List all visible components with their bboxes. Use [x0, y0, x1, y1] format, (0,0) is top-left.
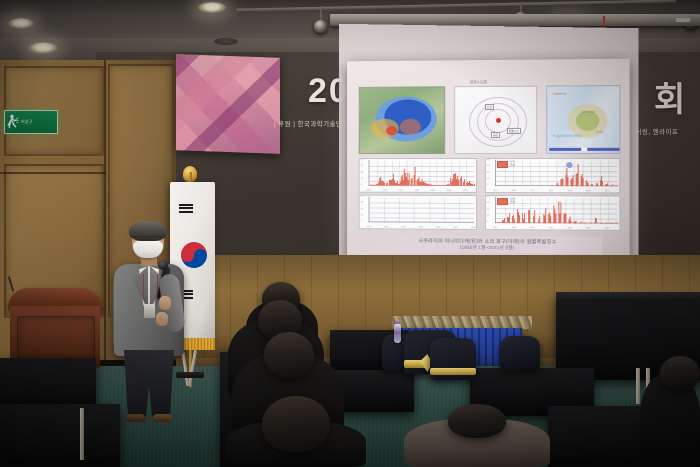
- chart-y-tick: 45: [487, 202, 489, 204]
- chart-gridline-vertical: [429, 198, 430, 223]
- chart-x-tick: 1995: [567, 190, 572, 192]
- banner-sponsor-text: | 후원 | 한국과학기술단체: [274, 118, 349, 128]
- chart-bar: [499, 222, 500, 223]
- audience-head: [262, 396, 330, 452]
- chart-gridline-vertical: [459, 198, 460, 223]
- legend-label: 남악쇼와: [510, 162, 515, 168]
- chart-bar: [514, 219, 515, 223]
- chart-x-tick: 1995: [567, 227, 572, 229]
- banner-right-text: 회: [654, 72, 685, 121]
- chart-bar: [540, 216, 541, 223]
- chart-showa-top: 남악쇼와195519651975198519952005201501530456…: [485, 158, 620, 193]
- map-label: 北岳: [485, 104, 494, 110]
- chart-bar: [509, 213, 510, 223]
- slide-caption-line2: (1955년 1월~2021년 9월): [374, 244, 602, 252]
- chart-gridline-vertical: [444, 161, 445, 186]
- chart-y-tick: 0: [487, 184, 488, 186]
- chart-bar: [586, 223, 587, 224]
- chart-y-tick: 30: [361, 208, 363, 210]
- presenter-shoe-left: [126, 414, 146, 422]
- chart-bar: [617, 223, 618, 224]
- chart-x-tick: 2005: [586, 228, 591, 230]
- downlight-icon: [28, 42, 58, 54]
- projection-screen[interactable]: 桜島火山図 北岳 南岳 昭和火口 Kagoshima Sakurajima Os…: [347, 59, 630, 264]
- chart-x-tick: 1985: [419, 227, 424, 229]
- chart-bar: [612, 223, 613, 224]
- trigram-geon: [179, 204, 193, 214]
- chart-bar: [591, 223, 592, 224]
- chart-bar: [612, 184, 613, 186]
- chart-bar: [576, 220, 577, 223]
- chart-bar: [563, 178, 564, 186]
- chart-bar: [553, 185, 554, 186]
- chart-x-tick: 1975: [398, 190, 403, 192]
- chart-x-tick: 1995: [431, 190, 436, 192]
- chart-gridline-vertical: [582, 198, 583, 223]
- chart-y-tick: 15: [361, 214, 363, 216]
- contour-map-title: 桜島火山図: [470, 79, 487, 84]
- legend-swatch: [497, 198, 508, 205]
- chart-x-tick: 1955: [367, 226, 372, 228]
- chart-gridline-vertical: [548, 161, 549, 186]
- chart-x-tick: 1975: [530, 227, 535, 229]
- chart-bar: [602, 222, 603, 223]
- chart-x-tick: 1995: [436, 227, 441, 229]
- chart-legend: 남악쇼와: [497, 198, 515, 205]
- chart-gridline-vertical: [556, 198, 557, 223]
- chart-x-tick: 2005: [586, 190, 591, 192]
- water-bottle[interactable]: [394, 324, 401, 343]
- chart-gridline-vertical: [574, 198, 575, 223]
- decorative-banner: [176, 54, 280, 154]
- presenter-hand-upper: [159, 296, 171, 310]
- chart-y-axis: [495, 197, 496, 223]
- door-edge: [0, 172, 106, 174]
- chart-y-tick: 30: [361, 171, 363, 173]
- valance-tab: [676, 18, 690, 22]
- audience-head: [660, 356, 700, 390]
- table-leg: [80, 408, 84, 460]
- chart-x-tick: 1955: [367, 190, 372, 192]
- presenter-lanyard: [143, 274, 158, 304]
- presenter-hand-lower: [156, 312, 168, 326]
- chart-x-tick: 2015: [605, 190, 610, 192]
- bottle-cap: [395, 321, 400, 324]
- legend-label: 남악쇼와: [510, 199, 515, 205]
- audience-head: [448, 404, 506, 438]
- slide-map-row: 北岳 南岳 昭和火口 Kagoshima Sakurajima Osumi Ka…: [359, 85, 621, 152]
- chair-sash: [430, 368, 476, 375]
- chart-bar: [581, 221, 582, 224]
- chart-y-tick: 60: [487, 159, 489, 161]
- chart-gridline-vertical: [591, 198, 592, 223]
- chart-x-tick: 1955: [493, 227, 498, 229]
- chart-y-tick: 45: [361, 202, 363, 204]
- chart-bar: [550, 217, 551, 224]
- chart-bar: [558, 183, 559, 186]
- contour-map-image: 北岳 南岳 昭和火口: [454, 86, 537, 154]
- chart-y-tick: 60: [487, 196, 489, 198]
- chair[interactable]: [500, 336, 540, 370]
- chart-bar: [504, 218, 505, 223]
- door-edge: [104, 60, 106, 360]
- slide-chart-grid: 1955196519751985199520052015015304560 남악…: [359, 158, 621, 231]
- chart-bar: [587, 183, 588, 186]
- chart-bar: [474, 184, 475, 186]
- chart-y-tick: 30: [487, 172, 489, 174]
- map-scalebar: [549, 148, 619, 151]
- chart-y-tick: 15: [487, 178, 489, 180]
- chart-bar: [529, 210, 530, 223]
- chart-gridline-vertical: [414, 198, 415, 223]
- chart-bar: [545, 209, 546, 224]
- volcano-peak-marker: [496, 118, 501, 123]
- chart-x-tick: 1955: [493, 190, 498, 192]
- chart-bar: [560, 202, 561, 224]
- chart-bar: [592, 184, 593, 186]
- chart-minamidake-bottom: 1955196519751985199520052015015304560: [359, 195, 477, 230]
- chart-gridline-vertical: [384, 198, 385, 223]
- chart-gridline-vertical: [436, 161, 437, 186]
- chart-y-tick: 60: [361, 196, 363, 198]
- presenter: [112, 224, 188, 424]
- chart-y-tick: 0: [361, 220, 362, 222]
- chart-bar: [565, 213, 566, 223]
- chart-gridline-vertical: [530, 161, 531, 186]
- exit-sign-label: 비상구: [21, 120, 33, 124]
- chart-x-tick: 2015: [605, 228, 610, 230]
- chart-bar: [555, 214, 556, 224]
- chart-bar: [607, 183, 608, 186]
- chart-x-tick: 1975: [401, 226, 406, 228]
- chart-bar: [572, 175, 573, 187]
- chart-x-tick: 1965: [511, 227, 516, 229]
- chart-x-tick: 1975: [530, 190, 535, 192]
- valance-marker: [603, 16, 605, 25]
- lectern-panel: [17, 316, 95, 362]
- slide-content: 桜島火山図 北岳 南岳 昭和火口 Kagoshima Sakurajima Os…: [347, 59, 630, 264]
- chart-gridline-vertical: [600, 198, 601, 223]
- chart-bar: [577, 164, 578, 186]
- chart-x-tick: 1985: [549, 227, 554, 229]
- chart-x-tick: 2005: [453, 227, 458, 229]
- chart-y-tick: 15: [361, 178, 363, 180]
- chart-x-tick: 1965: [382, 190, 387, 192]
- chart-gridline-vertical: [522, 161, 523, 186]
- chart-gridline-vertical: [609, 198, 610, 223]
- chart-gridline-vertical: [530, 198, 531, 223]
- chart-bar: [568, 177, 569, 186]
- running-person-icon: [7, 114, 19, 130]
- chart-y-tick: 0: [361, 184, 362, 186]
- chart-gridline-vertical: [429, 161, 430, 186]
- presenter-trousers: [124, 350, 174, 418]
- legend-swatch: [497, 161, 508, 168]
- spotlight-icon[interactable]: [314, 20, 327, 33]
- chart-y-tick: 30: [487, 209, 489, 211]
- audience-head: [264, 332, 314, 378]
- ceiling-vent-icon: [214, 38, 238, 45]
- chart-gridline-vertical: [609, 161, 610, 186]
- chart-y-axis: [495, 160, 496, 186]
- chart-legend: 남악쇼와: [497, 161, 515, 168]
- chart-minamidake-top: 1955196519751985199520052015015304560: [359, 158, 477, 193]
- bay-map-image: Kagoshima Sakurajima Osumi Kagoshima Bay: [546, 85, 620, 154]
- chart-gridline-vertical: [444, 198, 445, 223]
- chart-y-axis: [368, 160, 369, 186]
- chart-gridline-vertical: [539, 161, 540, 186]
- chart-showa-bottom: 남악쇼와195519651975198519952005201501530456…: [485, 195, 620, 231]
- chart-x-tick: 1985: [549, 190, 554, 192]
- presentation-photo: 비상구 202 회 | 후원 | 한국과학기술단체 스엔지니어링, 엔라이프 桜…: [0, 0, 700, 467]
- chart-x-tick: 2015: [463, 190, 468, 192]
- chart-y-tick: 60: [361, 159, 363, 161]
- map-label: Sakurajima: [581, 110, 594, 113]
- chart-x-tick: 2015: [471, 227, 476, 229]
- map-label: Osumi: [596, 131, 604, 134]
- chart-gridline-vertical: [574, 161, 575, 186]
- table-top: [556, 292, 700, 300]
- chart-bar: [524, 213, 525, 223]
- chart-bar: [596, 218, 597, 223]
- chart-x-tick: 2005: [447, 190, 452, 192]
- chart-annotation-marker: [566, 162, 572, 168]
- chart-bar: [571, 220, 572, 223]
- presenter-shoe-right: [152, 414, 172, 422]
- table-row: [0, 404, 120, 467]
- ceiling-vent-icon: [100, 4, 105, 8]
- slide-caption: 사쿠라지마 미나미다케(위)와 쇼와 화구(아래)의 월별폭발횟수 (1955년…: [374, 235, 602, 254]
- downlight-icon: [8, 18, 34, 29]
- chart-bar: [582, 178, 583, 186]
- chart-y-axis: [368, 197, 369, 223]
- table-leg: [636, 368, 640, 404]
- chart-y-tick: 45: [361, 165, 363, 167]
- chart-y-tick: 0: [487, 221, 488, 223]
- chart-x-tick: 1965: [511, 190, 516, 192]
- chart-y-tick: 15: [487, 215, 489, 217]
- chart-gridline-vertical: [591, 161, 592, 186]
- map-label: 南岳: [491, 132, 500, 138]
- chart-bar: [602, 181, 603, 186]
- chart-bar: [519, 215, 520, 223]
- emergency-exit-sign: 비상구: [4, 110, 58, 134]
- downlight-icon: [198, 2, 226, 13]
- chart-bar: [535, 217, 536, 223]
- map-label: 昭和火口: [507, 128, 521, 134]
- chart-y-tick: 45: [487, 165, 489, 167]
- chart-x-tick: 1965: [384, 226, 389, 228]
- bay-label: Kagoshima Bay: [553, 133, 581, 138]
- chart-x-tick: 1985: [415, 190, 420, 192]
- hazard-map-image: [359, 86, 445, 154]
- chart-gridline-vertical: [399, 198, 400, 223]
- presenter-name-badge: [144, 304, 155, 318]
- chart-bar: [617, 185, 618, 186]
- map-label: Kagoshima: [553, 92, 566, 95]
- chart-bar: [607, 223, 608, 224]
- chart-bar: [597, 183, 598, 186]
